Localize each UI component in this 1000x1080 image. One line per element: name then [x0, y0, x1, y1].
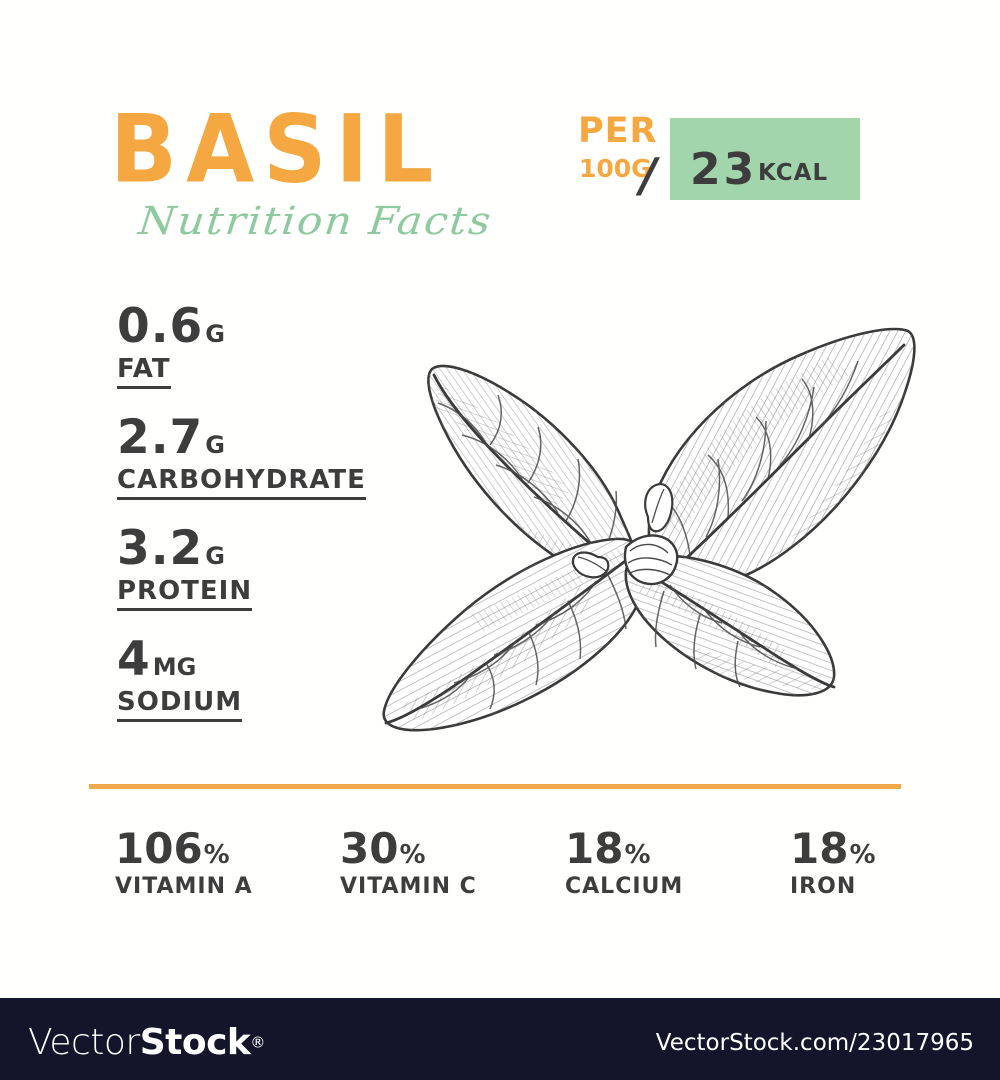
nutrient-label: CARBOHYDRATE — [117, 465, 366, 500]
nutrient-unit: MG — [151, 653, 197, 681]
infographic-canvas: BASIL Nutrition Facts PER 100G / 23 KCAL… — [0, 0, 1000, 1080]
page-title: BASIL — [110, 103, 540, 196]
vitamin-label: IRON — [790, 874, 876, 900]
vitamin-label: VITAMIN A — [115, 874, 253, 900]
vitamin-row: 106% VITAMIN A 30% VITAMIN C 18% CALCIUM… — [0, 826, 1000, 906]
vitamin-unit: % — [623, 840, 650, 870]
vitamin-value-line: 18% — [565, 826, 683, 872]
vitamin-value: 30 — [340, 824, 398, 873]
nutrient-value: 2.7 — [117, 410, 203, 465]
slash-separator: / — [640, 152, 657, 198]
vitamin-unit: % — [848, 840, 875, 870]
title-block: BASIL Nutrition Facts — [110, 103, 540, 263]
vitamin-label: VITAMIN C — [340, 874, 477, 900]
logo-text-light: Vector — [28, 1022, 140, 1063]
per-serving-badge: PER 100G / 23 KCAL — [578, 114, 878, 206]
nutrient-unit: G — [203, 320, 225, 348]
section-divider — [89, 784, 901, 789]
basil-sprig-icon — [330, 265, 930, 765]
vitamin-item: 30% VITAMIN C — [340, 826, 477, 900]
vitamin-value: 106 — [115, 824, 203, 873]
nutrient-label: FAT — [117, 354, 171, 389]
calorie-unit: KCAL — [758, 162, 828, 185]
page-subtitle: Nutrition Facts — [105, 191, 540, 243]
vitamin-unit: % — [203, 840, 230, 870]
vitamin-value: 18 — [790, 824, 848, 873]
vitamin-label: CALCIUM — [565, 874, 683, 900]
vitamin-unit: % — [398, 840, 425, 870]
basil-illustration — [330, 265, 930, 765]
vitamin-value-line: 30% — [340, 826, 477, 872]
nutrient-label: SODIUM — [117, 687, 242, 722]
per-label: PER — [578, 114, 658, 149]
watermark-footer: VectorStock® VectorStock.com/23017965 — [0, 998, 1000, 1080]
vitamin-value-line: 106% — [115, 826, 253, 872]
registered-trademark-icon: ® — [250, 1034, 265, 1052]
vitamin-item: 106% VITAMIN A — [115, 826, 253, 900]
nutrient-unit: G — [203, 542, 225, 570]
watermark-url: VectorStock.com/23017965 — [656, 1030, 974, 1056]
nutrient-label: PROTEIN — [117, 576, 252, 611]
nutrient-value: 4 — [117, 632, 151, 687]
nutrient-value: 0.6 — [117, 299, 203, 354]
vitamin-value-line: 18% — [790, 826, 876, 872]
basil-leaves-group — [370, 315, 930, 745]
nutrient-value: 3.2 — [117, 521, 203, 576]
calorie-value: 23 — [690, 148, 757, 192]
nutrient-unit: G — [203, 431, 225, 459]
vitamin-value: 18 — [565, 824, 623, 873]
logo-text-bold: Stock — [140, 1022, 251, 1063]
vectorstock-logo: VectorStock® — [28, 1022, 265, 1063]
vitamin-item: 18% CALCIUM — [565, 826, 683, 900]
vitamin-item: 18% IRON — [790, 826, 876, 900]
